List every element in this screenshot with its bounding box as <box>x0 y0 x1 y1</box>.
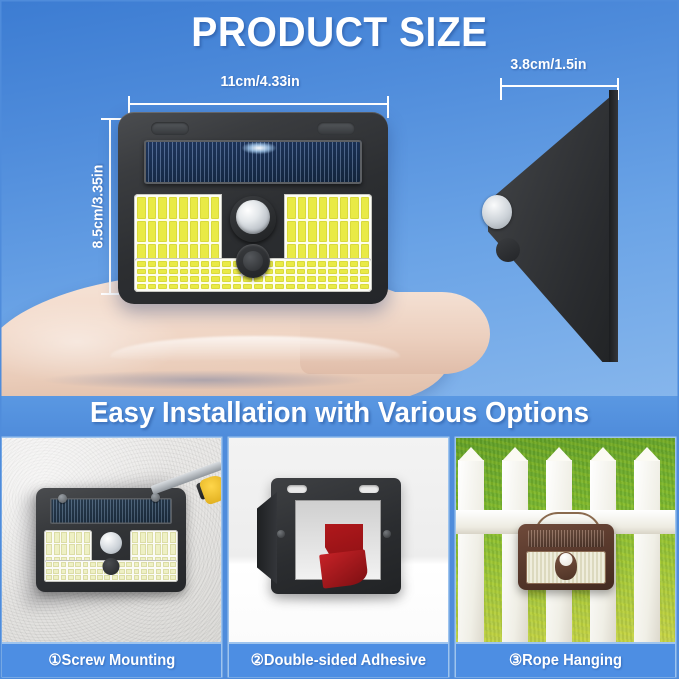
mounted-motion-sensor-icon <box>100 532 122 554</box>
height-dimension-line <box>109 118 111 294</box>
adhesive-caption: ②Double-sided Adhesive <box>251 651 426 670</box>
product-size-section: PRODUCT SIZE 11cm/4.33in 8.5cm/3.35in 3.… <box>0 0 679 398</box>
screw-hole-right-icon <box>383 530 391 538</box>
screw-hole-left-icon <box>277 530 285 538</box>
fence-picket <box>458 460 484 642</box>
mounted-power-button-icon <box>103 558 120 575</box>
width-dimension-line <box>128 103 388 105</box>
solar-lamp-front-view <box>118 112 388 304</box>
hand-fingers <box>300 292 490 374</box>
hanging-lamp-sensor-dome-icon <box>560 553 573 566</box>
rope-hanging-caption: ③Rope Hanging <box>509 651 622 670</box>
rope-hanging-caption-bar: ③Rope Hanging <box>456 644 675 677</box>
motion-sensor-dome-side-icon <box>482 195 512 229</box>
hang-slot-left <box>287 485 307 493</box>
rope-hanging-photo <box>456 438 675 642</box>
hanging-lamp <box>518 512 614 590</box>
installation-banner-title: Easy Installation with Various Options <box>17 397 662 430</box>
page-title: PRODUCT SIZE <box>24 8 655 56</box>
hanging-lamp-solar-panel <box>528 530 604 547</box>
lamp-back-edge <box>609 90 618 362</box>
hand-shadow <box>40 370 370 390</box>
back-plate-recess <box>295 500 381 580</box>
power-button-icon[interactable] <box>243 251 263 271</box>
grass-background <box>456 438 675 642</box>
mount-slot-right <box>317 122 355 135</box>
adhesive-peel-tab <box>319 549 369 588</box>
screw-mounting-caption-bar: ①Screw Mounting <box>2 644 221 677</box>
depth-dimension-label: 3.8cm/1.5in <box>510 56 586 73</box>
adhesive-photo <box>229 438 448 642</box>
installation-option-rope-hanging[interactable]: ③Rope Hanging <box>456 438 675 677</box>
screw-mounting-photo <box>2 438 221 642</box>
hang-slot-right <box>359 485 379 493</box>
height-dimension-label: 8.5cm/3.35in <box>90 160 107 254</box>
solar-panel-glint <box>242 142 276 154</box>
fence-picket <box>634 460 660 642</box>
installation-option-double-sided-adhesive[interactable]: ②Double-sided Adhesive <box>229 438 448 677</box>
screw-right-icon <box>151 493 160 502</box>
width-dimension-label: 11cm/4.33in <box>221 73 300 90</box>
mounted-lamp <box>36 488 186 592</box>
mount-slot-left <box>151 122 189 135</box>
installation-options-grid: ①Screw Mounting <box>0 436 679 679</box>
power-button-side-icon <box>496 238 520 262</box>
screw-mounting-caption: ①Screw Mounting <box>48 651 175 670</box>
product-infographic: PRODUCT SIZE 11cm/4.33in 8.5cm/3.35in 3.… <box>0 0 679 679</box>
screw-left-icon <box>58 494 67 503</box>
lamp-side-profile <box>488 90 618 362</box>
motion-sensor-dome-icon <box>236 200 270 234</box>
installation-option-screw-mounting[interactable]: ①Screw Mounting <box>2 438 221 677</box>
depth-dimension-line <box>500 85 618 87</box>
adhesive-caption-bar: ②Double-sided Adhesive <box>229 644 448 677</box>
lamp-back-plate <box>271 478 401 594</box>
solar-lamp-side-view <box>488 90 618 362</box>
